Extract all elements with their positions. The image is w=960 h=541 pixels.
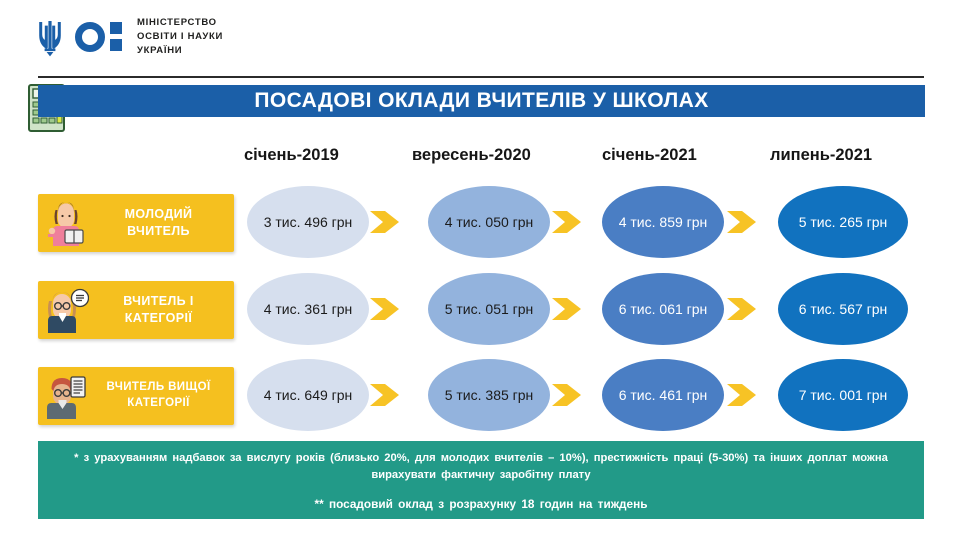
chevron-right-icon	[370, 208, 402, 236]
category-label-line-2: ВЧИТЕЛЬ	[89, 223, 228, 240]
ministry-line-1: МІНІСТЕРСТВО	[137, 16, 223, 30]
category-label: ВЧИТЕЛЬ ВИЩОЇ КАТЕГОРІЇ	[89, 380, 234, 411]
chevron-right-icon	[727, 295, 759, 323]
value-bubble: 4 тис. 361 грн	[247, 273, 369, 345]
value-bubble: 5 тис. 051 грн	[428, 273, 550, 345]
mon-circle-squares-icon	[75, 22, 122, 52]
chevron-right-icon	[370, 295, 402, 323]
footnote-secondary: ** посадовий оклад з розрахунку 18 годин…	[48, 497, 914, 511]
column-header-0: січень-2019	[244, 146, 339, 165]
ukraine-trident-icon	[36, 17, 64, 57]
value-bubble: 4 тис. 649 грн	[247, 359, 369, 431]
footnotes-box: * з урахуванням надбавок за вислугу рокі…	[38, 441, 924, 519]
young-female-teacher-icon	[45, 200, 89, 246]
value-bubble: 6 тис. 061 грн	[602, 273, 724, 345]
category-badge-highest-category: ВЧИТЕЛЬ ВИЩОЇ КАТЕГОРІЇ	[38, 367, 234, 425]
chevron-right-icon	[552, 295, 584, 323]
chevron-right-icon	[370, 381, 402, 409]
column-headers: січень-2019 вересень-2020 січень-2021 ли…	[240, 146, 940, 172]
category-label-line-2: КАТЕГОРІЇ	[89, 396, 228, 412]
chevron-right-icon	[727, 381, 759, 409]
category-label-line-1: ВЧИТЕЛЬ І	[89, 293, 228, 310]
ministry-name: МІНІСТЕРСТВО ОСВІТИ І НАУКИ УКРАЇНИ	[137, 16, 223, 57]
table-row: ВЧИТЕЛЬ ВИЩОЇ КАТЕГОРІЇ 4 тис. 649 грн 5…	[0, 359, 960, 435]
footnote-primary: * з урахуванням надбавок за вислугу рокі…	[48, 450, 914, 485]
column-header-3: липень-2021	[770, 146, 872, 165]
table-row: ВЧИТЕЛЬ І КАТЕГОРІЇ 4 тис. 361 грн 5 тис…	[0, 273, 960, 349]
category-badge-first-category: ВЧИТЕЛЬ І КАТЕГОРІЇ	[38, 281, 234, 339]
chevron-right-icon	[552, 381, 584, 409]
category-label: ВЧИТЕЛЬ І КАТЕГОРІЇ	[89, 293, 234, 327]
category-label: МОЛОДИЙ ВЧИТЕЛЬ	[89, 206, 234, 240]
ministry-line-3: УКРАЇНИ	[137, 44, 223, 58]
teacher-highest-category-icon	[45, 373, 89, 419]
value-bubble: 4 тис. 859 грн	[602, 186, 724, 258]
header-divider	[38, 76, 924, 78]
page-title: ПОСАДОВІ ОКЛАДИ ВЧИТЕЛІВ У ШКОЛАХ	[38, 89, 925, 113]
value-bubble: 6 тис. 567 грн	[778, 273, 908, 345]
value-bubble: 4 тис. 050 грн	[428, 186, 550, 258]
value-bubble: 7 тис. 001 грн	[778, 359, 908, 431]
table-row: МОЛОДИЙ ВЧИТЕЛЬ 3 тис. 496 грн 4 тис. 05…	[0, 186, 960, 262]
ministry-line-2: ОСВІТИ І НАУКИ	[137, 30, 223, 44]
value-bubble: 3 тис. 496 грн	[247, 186, 369, 258]
column-header-1: вересень-2020	[412, 146, 531, 165]
category-badge-young-teacher: МОЛОДИЙ ВЧИТЕЛЬ	[38, 194, 234, 252]
value-bubble: 6 тис. 461 грн	[602, 359, 724, 431]
category-label-line-2: КАТЕГОРІЇ	[89, 310, 228, 327]
ministry-logo: МІНІСТЕРСТВО ОСВІТИ І НАУКИ УКРАЇНИ	[36, 16, 223, 57]
title-band: ПОСАДОВІ ОКЛАДИ ВЧИТЕЛІВ У ШКОЛАХ	[38, 85, 925, 117]
category-label-line-1: МОЛОДИЙ	[89, 206, 228, 223]
value-bubble: 5 тис. 385 грн	[428, 359, 550, 431]
column-header-2: січень-2021	[602, 146, 697, 165]
chevron-right-icon	[552, 208, 584, 236]
teacher-first-category-icon	[45, 287, 89, 333]
category-label-line-1: ВЧИТЕЛЬ ВИЩОЇ	[89, 380, 228, 396]
chevron-right-icon	[727, 208, 759, 236]
value-bubble: 5 тис. 265 грн	[778, 186, 908, 258]
